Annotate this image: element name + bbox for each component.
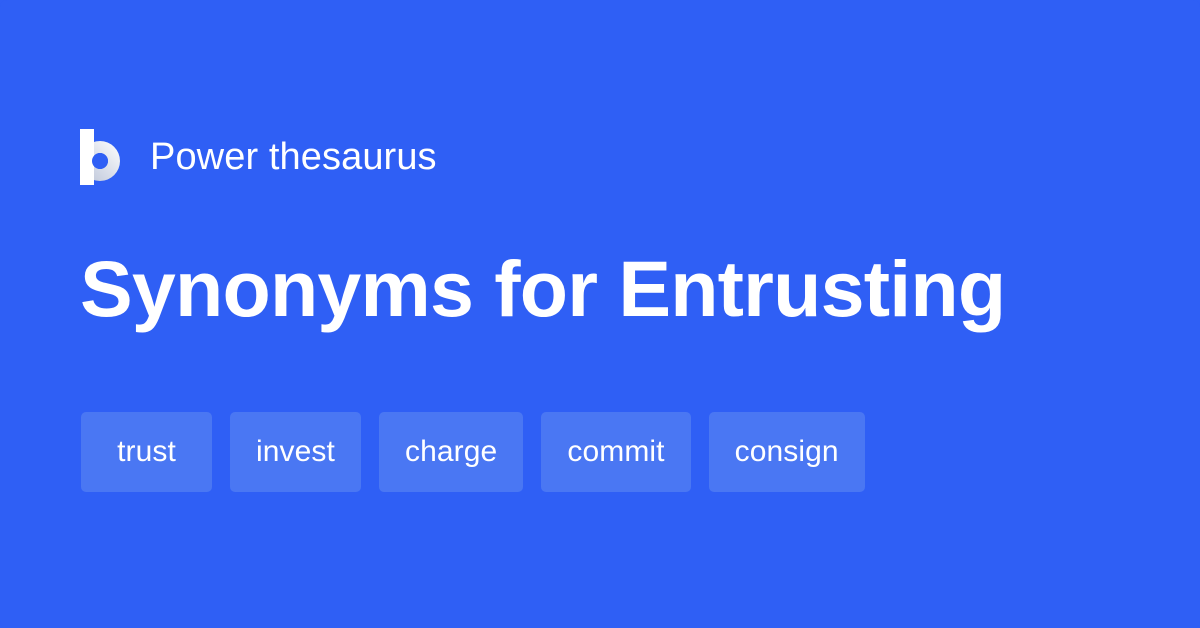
brand-logo[interactable]: Power thesaurus xyxy=(80,126,437,188)
brand-name: Power thesaurus xyxy=(150,138,437,176)
synonym-chip[interactable]: invest xyxy=(230,412,361,492)
synonym-chip[interactable]: commit xyxy=(541,412,690,492)
synonym-chip[interactable]: charge xyxy=(379,412,523,492)
share-card: Power thesaurus Synonyms for Entrusting … xyxy=(0,0,1200,628)
page-title: Synonyms for Entrusting xyxy=(80,246,1140,331)
synonym-chip[interactable]: consign xyxy=(709,412,865,492)
synonym-chip[interactable]: trust xyxy=(81,412,212,492)
power-thesaurus-b-logo-icon xyxy=(80,129,128,185)
synonym-chip-list: trust invest charge commit consign xyxy=(81,412,865,492)
